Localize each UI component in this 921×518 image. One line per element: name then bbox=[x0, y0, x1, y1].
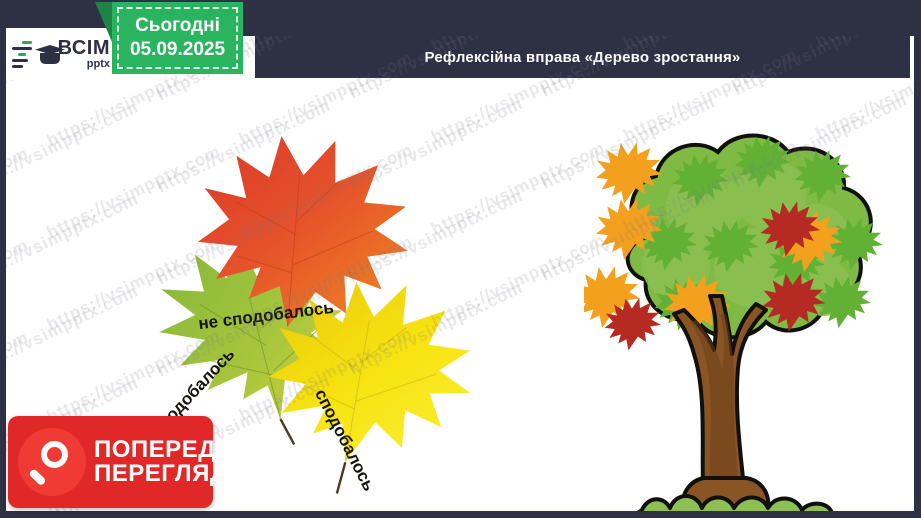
logo-wordmark: ВСІМ pptx bbox=[58, 38, 110, 70]
magnifier-icon bbox=[18, 428, 86, 496]
growth-tree-illustration bbox=[584, 118, 914, 511]
logo-suffix-text: pptx bbox=[58, 59, 110, 70]
today-date-badge: Сьогодні 05.09.2025 bbox=[112, 2, 243, 74]
graduation-cap-icon bbox=[35, 39, 55, 69]
today-date-value: 05.09.2025 bbox=[130, 38, 225, 62]
speed-lines-icon bbox=[12, 41, 32, 68]
slide-header-bar: Рефлексійна вправа «Дерево зростання» bbox=[255, 36, 910, 78]
maple-leaves-group: не сподобалось дуже сподобалось сподобал… bbox=[116, 124, 506, 464]
preview-badge-text: ПОПЕРЕДНІЙ ПЕРЕГЛЯД bbox=[94, 438, 259, 486]
slide-root: не сподобалось дуже сподобалось сподобал… bbox=[0, 0, 921, 518]
preview-badge[interactable]: ПОПЕРЕДНІЙ ПЕРЕГЛЯД bbox=[8, 416, 213, 508]
page-title: Рефлексійна вправа «Дерево зростання» bbox=[425, 49, 741, 66]
tree-svg bbox=[584, 118, 914, 511]
today-label: Сьогодні bbox=[135, 14, 220, 38]
preview-line-1: ПОПЕРЕДНІЙ bbox=[94, 438, 259, 462]
preview-line-2: ПЕРЕГЛЯД bbox=[94, 462, 259, 486]
logo-brand-text: ВСІМ bbox=[58, 38, 110, 58]
brand-logo: ВСІМ pptx bbox=[6, 28, 110, 80]
